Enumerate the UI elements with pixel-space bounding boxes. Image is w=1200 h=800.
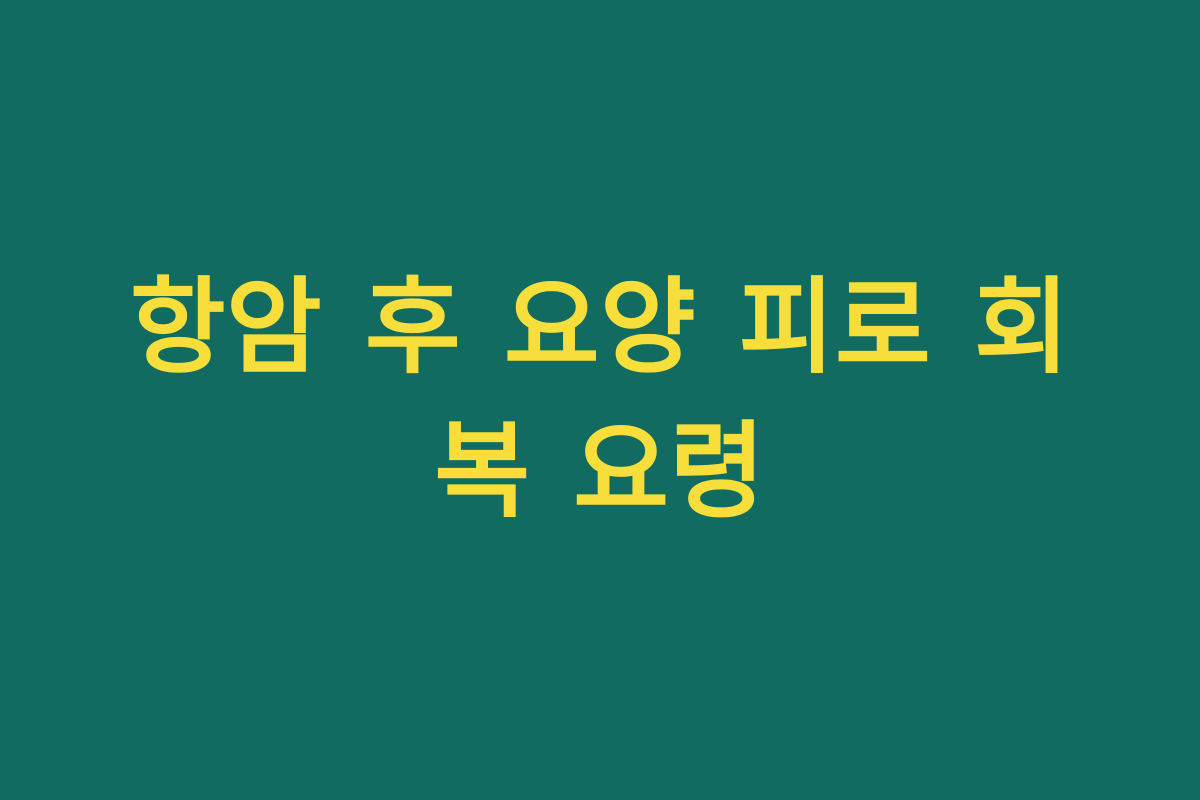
title-card: 항암 후 요양 피로 회복 요령 [0,0,1200,800]
headline-block: 항암 후 요양 피로 회복 요령 [95,256,1105,543]
headline: 항암 후 요양 피로 회복 요령 [105,256,1095,543]
